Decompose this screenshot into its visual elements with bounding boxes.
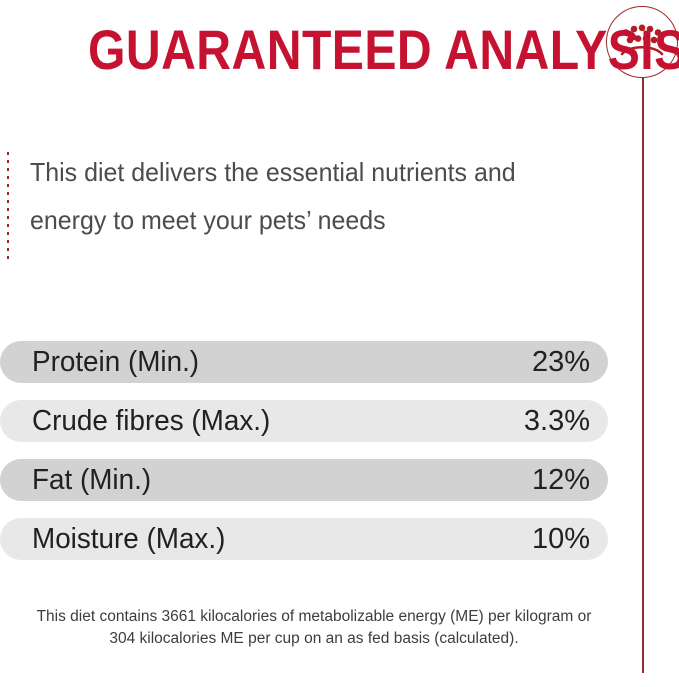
page-title: GUARANTEED ANALYSIS	[88, 20, 679, 80]
dotted-accent-rule	[7, 152, 9, 264]
analysis-row-value: 3.3%	[524, 405, 590, 438]
analysis-row: Fat (Min.)12%	[0, 459, 608, 501]
analysis-table: Protein (Min.)23%Crude fibres (Max.)3.3%…	[0, 341, 608, 577]
brand-vertical-line	[642, 77, 644, 673]
footnote-text: This diet contains 3661 kilocalories of …	[24, 606, 604, 650]
analysis-row-label: Crude fibres (Max.)	[32, 405, 504, 438]
analysis-row: Protein (Min.)23%	[0, 341, 608, 383]
analysis-row-value: 23%	[532, 346, 590, 379]
analysis-row-label: Moisture (Max.)	[32, 523, 512, 556]
analysis-row-label: Fat (Min.)	[32, 464, 512, 497]
analysis-row: Moisture (Max.)10%	[0, 518, 608, 560]
analysis-row: Crude fibres (Max.)3.3%	[0, 400, 608, 442]
analysis-row-value: 10%	[532, 523, 590, 556]
analysis-row-label: Protein (Min.)	[32, 346, 512, 379]
analysis-row-value: 12%	[532, 464, 590, 497]
intro-text: This diet delivers the essential nutrien…	[30, 148, 587, 244]
